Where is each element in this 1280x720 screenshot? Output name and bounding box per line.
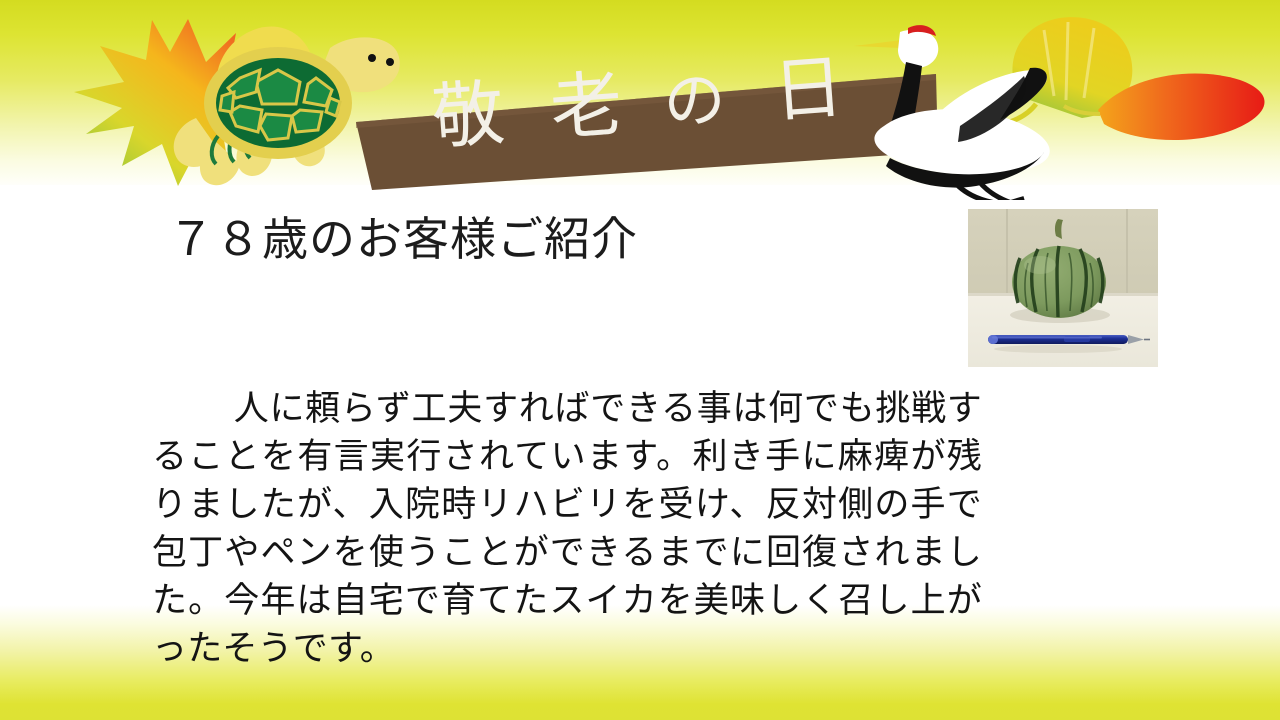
svg-text:老: 老: [547, 62, 625, 151]
svg-text:敬: 敬: [429, 71, 507, 160]
body-paragraph: 人に頼らず工夫すればできる事は何でも挑戦することを有言実行されています。利き手に…: [152, 385, 982, 673]
page-title: ７８歳のお客様ご紹介: [168, 214, 638, 265]
slide: 敬 老 の 日: [0, 0, 1280, 720]
svg-text:の: の: [661, 62, 728, 139]
header-artwork: 敬 老 の 日: [0, 0, 1280, 200]
watermelon-photo: [968, 209, 1158, 367]
svg-text:日: 日: [770, 46, 846, 133]
